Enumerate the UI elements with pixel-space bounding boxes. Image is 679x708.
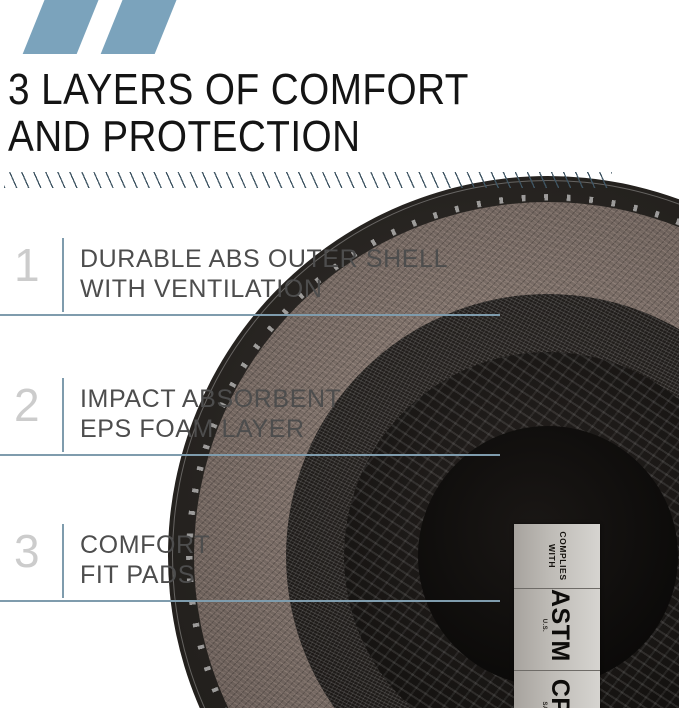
feature-number-1: 1 [14, 242, 54, 288]
quote-slash-1-icon [23, 0, 104, 54]
sticker-cpsc-sub: SAFETY [542, 702, 548, 708]
feature-label-2-line1: IMPACT ABSORBENT [80, 384, 500, 414]
helmet-grain-band-layer [286, 294, 679, 708]
feature-label-3: COMFORT FIT PADS [80, 530, 500, 590]
quote-mark-icon [10, 0, 190, 54]
hatch-divider [4, 172, 612, 188]
feature-label-1: DURABLE ABS OUTER SHELL WITH VENTILATION [80, 244, 500, 304]
sticker-cpsc-group: CPSC SAFETY [542, 679, 573, 708]
sticker-astm-mark: ASTM [548, 589, 573, 662]
sticker-divider [514, 670, 600, 671]
feature-label-1-line1: DURABLE ABS OUTER SHELL [80, 244, 500, 274]
feature-vertical-rule-3 [62, 524, 64, 598]
astm-cpsc-compliance-sticker: COMPLIES WITH ASTM U.S. CPSC SAFETY [514, 524, 600, 708]
feature-label-2-line2: EPS FOAM LAYER [80, 414, 500, 444]
infographic-canvas: COMPLIES WITH ASTM U.S. CPSC SAFETY 3 LA… [0, 0, 679, 708]
sticker-astm-group: ASTM U.S. [542, 589, 573, 662]
page-title: 3 LAYERS OF COMFORT AND PROTECTION [8, 66, 536, 160]
feature-vertical-rule-1 [62, 238, 64, 312]
quote-slash-2-icon [101, 0, 182, 54]
feature-underline-3 [0, 600, 500, 602]
sticker-complies-line2: WITH [546, 544, 557, 568]
page-title-line1: 3 LAYERS OF COMFORT [8, 66, 536, 113]
feature-number-2: 2 [14, 382, 54, 428]
sticker-astm-sub: U.S. [542, 619, 548, 632]
feature-number-3: 3 [14, 528, 54, 574]
feature-label-3-line2: FIT PADS [80, 560, 500, 590]
feature-underline-2 [0, 454, 500, 456]
sticker-marks-block: ASTM U.S. CPSC SAFETY [514, 589, 600, 708]
feature-underline-1 [0, 314, 500, 316]
feature-label-1-line2: WITH VENTILATION [80, 274, 500, 304]
feature-vertical-rule-2 [62, 378, 64, 452]
sticker-complies-block: COMPLIES WITH [514, 524, 600, 589]
feature-label-3-line1: COMFORT [80, 530, 500, 560]
feature-label-2: IMPACT ABSORBENT EPS FOAM LAYER [80, 384, 500, 444]
sticker-complies-line1: COMPLIES [557, 531, 568, 580]
page-title-line2: AND PROTECTION [8, 113, 536, 160]
sticker-cpsc-mark: CPSC [548, 679, 573, 708]
